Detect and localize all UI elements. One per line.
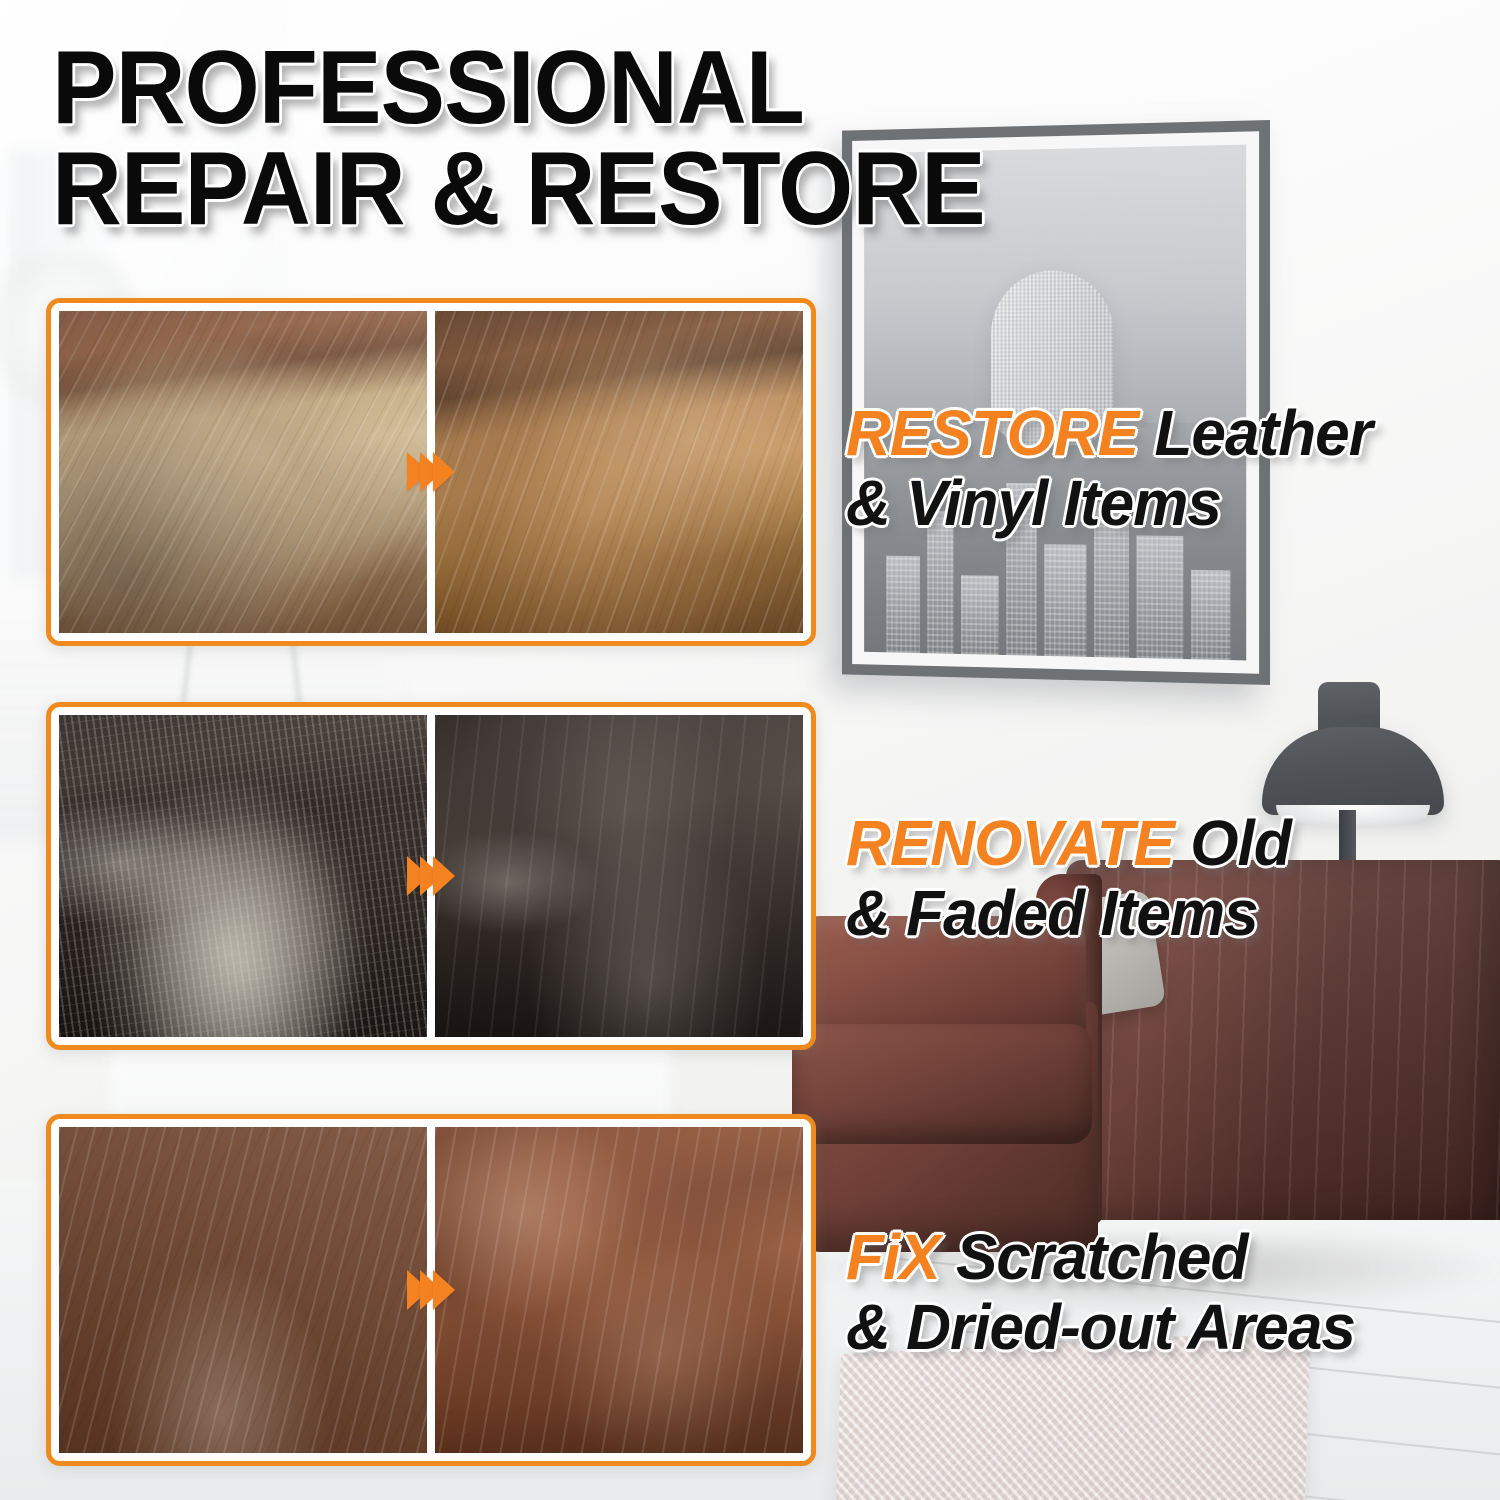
- feature-fix-line1: FiX Scratched: [846, 1222, 1355, 1292]
- artwork-building: [1137, 536, 1184, 659]
- feature-fix-highlight: FiX: [846, 1221, 940, 1293]
- panel-inner: [59, 1127, 803, 1453]
- after-photo-sofa-tan: [435, 311, 803, 633]
- feature-renovate-line2: & Faded Items: [846, 878, 1291, 948]
- artwork-building: [886, 556, 919, 653]
- sofa-front-cushion: [792, 1024, 1092, 1144]
- feature-restore-rest: Leather: [1138, 397, 1372, 469]
- panel-inner: [59, 311, 803, 633]
- panel-inner: [59, 715, 803, 1037]
- artwork-building: [1044, 544, 1086, 657]
- comparison-panel-sofa-redbrown: [46, 1114, 816, 1466]
- feature-fix-rest: Scratched: [940, 1221, 1248, 1293]
- after-photo-recliner-dark: [435, 715, 803, 1037]
- before-photo-sofa-redbrown: [59, 1127, 427, 1453]
- after-photo-sofa-redbrown: [435, 1127, 803, 1453]
- poster-canvas: PROFESSIONAL REPAIR & RESTORE: [0, 0, 1500, 1500]
- before-photo-recliner-dark: [59, 715, 427, 1037]
- feature-fix-line2: & Dried-out Areas: [846, 1292, 1355, 1362]
- feature-restore: RESTORE Leather & Vinyl Items: [846, 398, 1372, 539]
- feature-renovate-highlight: RENOVATE: [846, 807, 1174, 879]
- feature-restore-highlight: RESTORE: [846, 397, 1138, 469]
- artwork-building: [961, 575, 999, 655]
- feature-renovate: RENOVATE Old & Faded Items: [846, 808, 1291, 949]
- comparison-panel-sofa-tan: [46, 298, 816, 646]
- feature-fix: FiX Scratched & Dried-out Areas: [846, 1222, 1355, 1363]
- feature-restore-line2: & Vinyl Items: [846, 468, 1372, 538]
- comparison-panel-recliner-dark: [46, 702, 816, 1050]
- before-photo-sofa-tan: [59, 311, 427, 633]
- artwork-building: [1191, 569, 1230, 660]
- feature-restore-line1: RESTORE Leather: [846, 398, 1372, 468]
- feature-renovate-rest: Old: [1174, 807, 1291, 879]
- feature-renovate-line1: RENOVATE Old: [846, 808, 1291, 878]
- page-title: PROFESSIONAL REPAIR & RESTORE: [52, 38, 1149, 240]
